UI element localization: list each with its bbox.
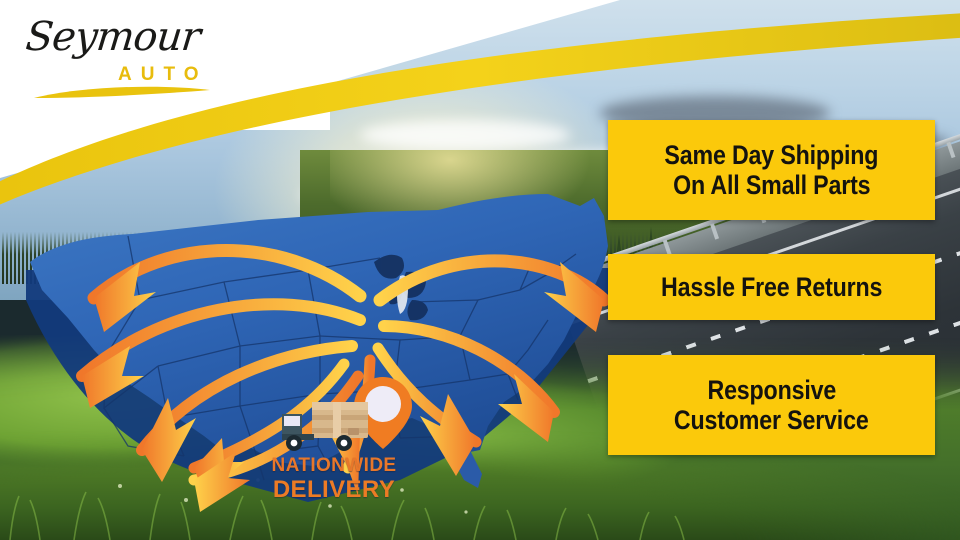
promo-banner-slide: NATIONWIDE DELIVERY Seymour AUTO Same Da… [0,0,960,540]
banner-line: Same Day Shipping [665,140,879,170]
nationwide-delivery-caption: NATIONWIDE DELIVERY [264,456,404,502]
logo-swoosh-icon [32,84,212,100]
banner-line: Customer Service [674,405,869,435]
banner-same-day-shipping[interactable]: Same Day Shipping On All Small Parts [608,120,935,220]
delivery-truck-icon [278,398,374,454]
brand-subname: AUTO [118,64,207,86]
banner-line: On All Small Parts [673,170,870,200]
banner-line: Hassle Free Returns [661,272,882,302]
brand-name: Seymour [24,14,202,60]
brand-logo[interactable]: Seymour AUTO [22,12,252,108]
banner-responsive-customer-service[interactable]: Responsive Customer Service [608,355,935,455]
caption-line-2: DELIVERY [264,478,404,502]
caption-line-1: NATIONWIDE [264,456,404,475]
banner-hassle-free-returns[interactable]: Hassle Free Returns [608,254,935,320]
banner-line: Responsive [707,375,836,405]
